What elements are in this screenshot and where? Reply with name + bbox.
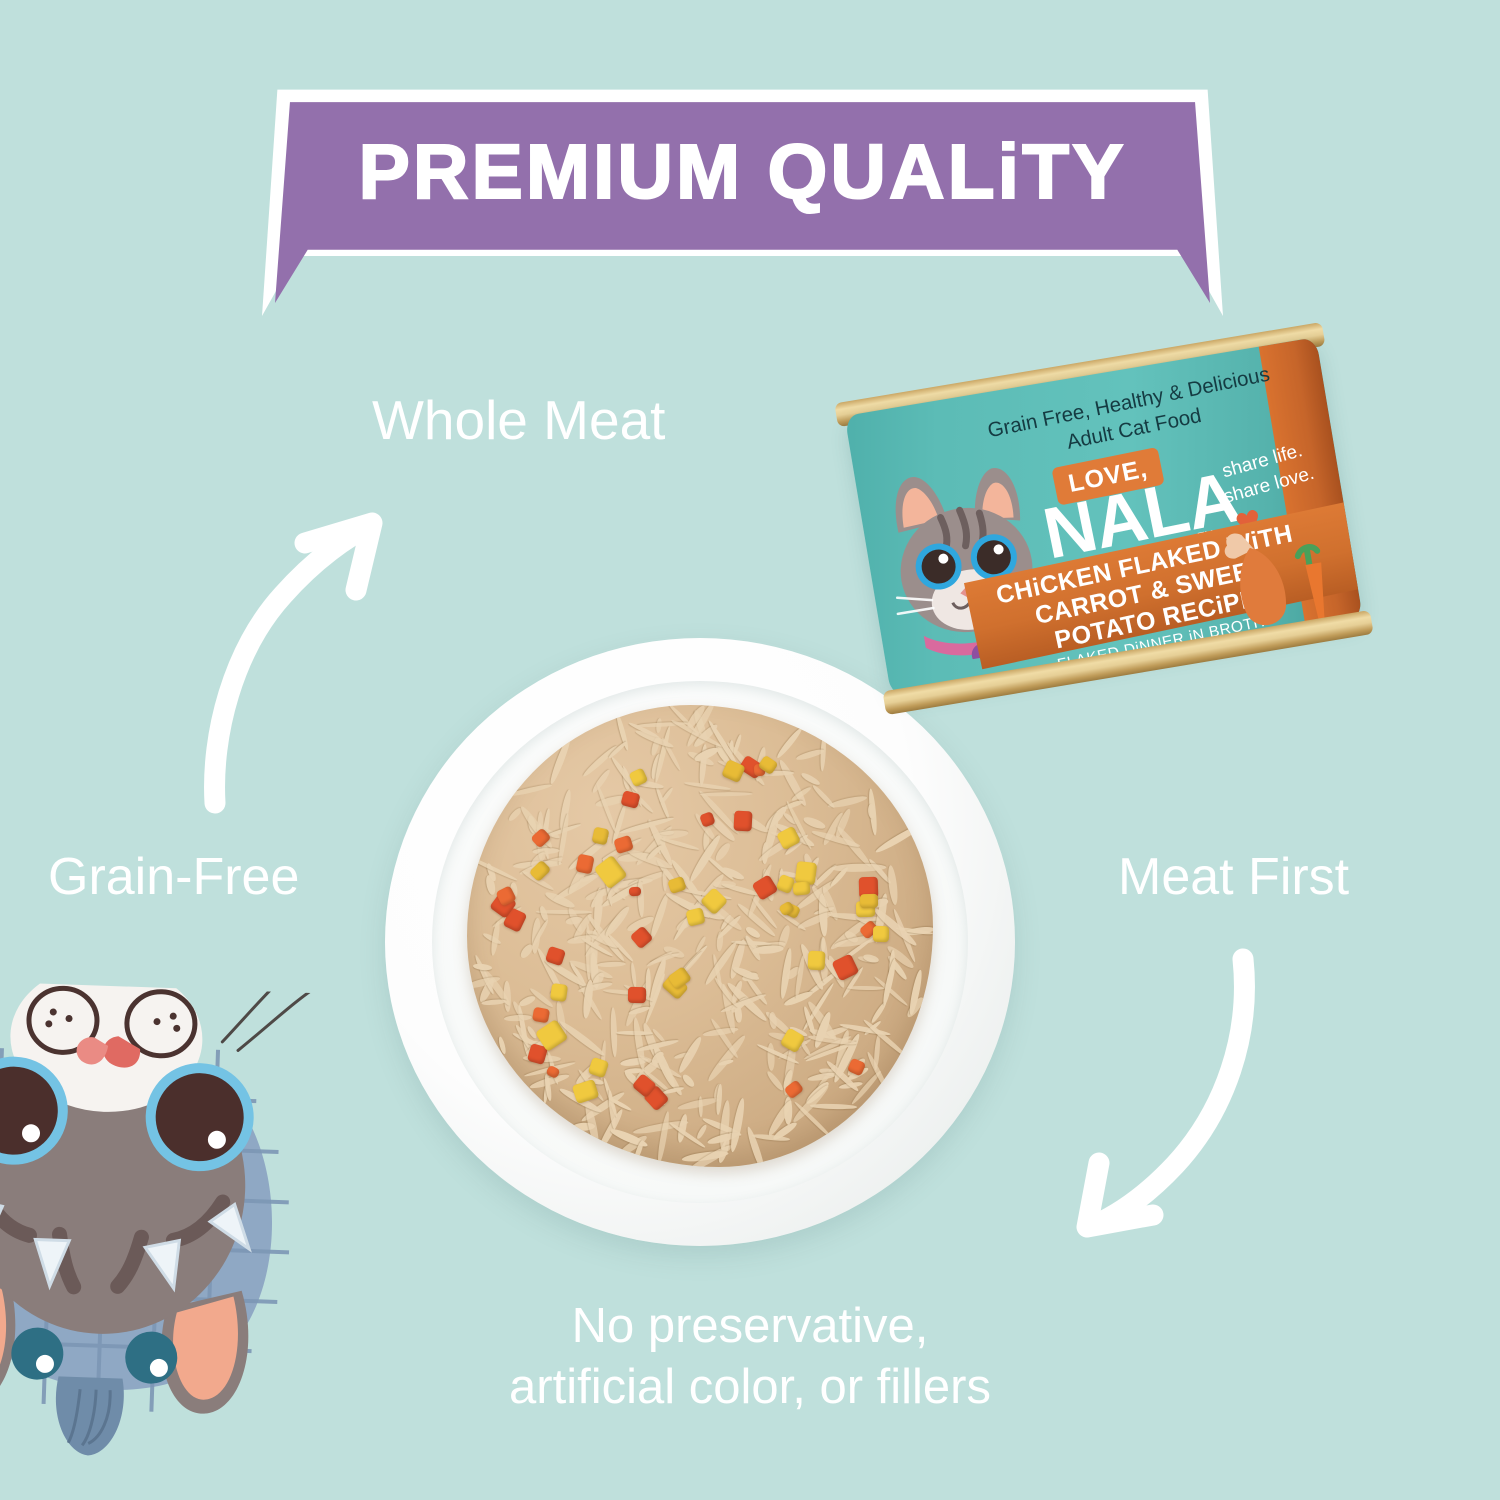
- nala-cat-mascot-peeking: [0, 978, 350, 1464]
- curved-arrow-up-right-icon: [175, 485, 405, 815]
- premium-quality-banner: PREMIUM QUALiTY: [275, 98, 1210, 303]
- chicken-drumstick-and-carrot-illustration: [1214, 498, 1352, 636]
- curved-arrow-down-left-icon: [1045, 925, 1285, 1245]
- feature-label-whole-meat: Whole Meat: [372, 388, 665, 452]
- banner-title: PREMIUM QUALiTY: [275, 98, 1210, 246]
- feature-label-grain-free: Grain-Free: [48, 847, 299, 907]
- product-infographic: PREMIUM QUALiTY Whole Meat Grain-Free Me…: [0, 0, 1500, 1500]
- no-preservative-line-1: No preservative,: [572, 1299, 929, 1353]
- product-can: Grain Free, Healthy & Delicious Adult Ca…: [823, 311, 1393, 737]
- feature-label-meat-first: Meat First: [1118, 847, 1349, 907]
